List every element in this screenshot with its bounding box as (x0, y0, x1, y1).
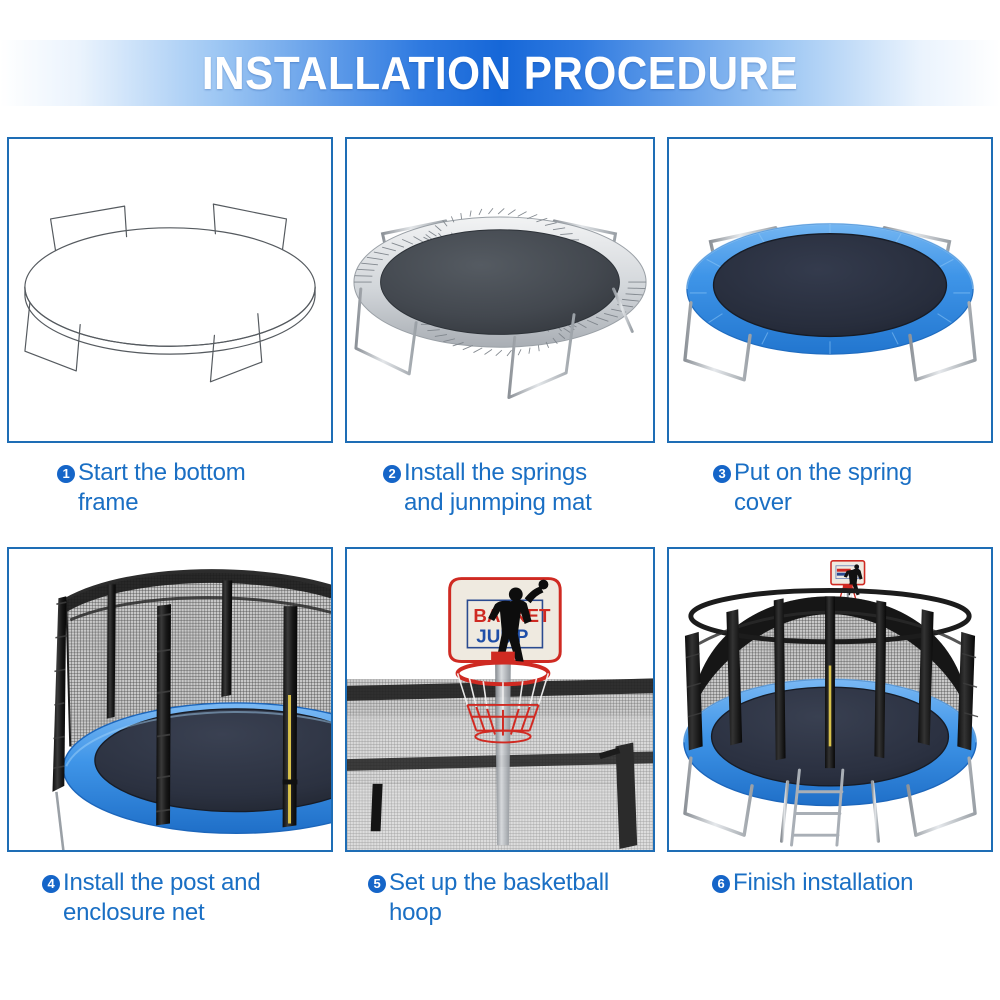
caption-line-5b: hoop (368, 898, 658, 928)
caption-step-6: 6Finish installation (712, 868, 1000, 898)
caption-line-5a: Set up the basketball (389, 869, 609, 896)
caption-line-3a: Put on the spring (734, 459, 912, 486)
caption-step-3: 3Put on the spring cover (713, 458, 988, 518)
illustration-posts-and-net (9, 549, 331, 850)
caption-step-5: 5Set up the basketball hoop (368, 868, 658, 928)
step-badge-6: 6 (712, 875, 730, 893)
illustration-springs-and-mat (347, 139, 653, 441)
caption-line-2b: and junmping mat (383, 488, 658, 518)
illustration-spring-cover (669, 139, 991, 441)
caption-step-2: 2Install the springs and junmping mat (383, 458, 658, 518)
caption-line-4a: Install the post and (63, 869, 260, 896)
panel-step-4 (7, 547, 333, 852)
caption-line-2a: Install the springs (404, 459, 587, 486)
step-badge-5: 5 (368, 875, 386, 893)
caption-line-1a: Start the bottom (78, 459, 246, 486)
panel-step-3 (667, 137, 993, 443)
caption-line-6a: Finish installation (733, 869, 913, 896)
step-badge-1: 1 (57, 465, 75, 483)
caption-line-3b: cover (713, 488, 988, 518)
illustration-finished-trampoline (669, 549, 991, 850)
panel-step-5: BASKET JUMP (345, 547, 655, 852)
caption-line-4b: enclosure net (42, 898, 332, 928)
step-badge-4: 4 (42, 875, 60, 893)
panel-step-6 (667, 547, 993, 852)
step-badge-2: 2 (383, 465, 401, 483)
caption-line-1b: frame (57, 488, 327, 518)
caption-step-4: 4Install the post and enclosure net (42, 868, 332, 928)
header-banner: INSTALLATION PROCEDURE (0, 40, 1000, 106)
panel-step-1 (7, 137, 333, 443)
illustration-bottom-frame (9, 139, 331, 441)
panel-step-2 (345, 137, 655, 443)
page-title: INSTALLATION PROCEDURE (202, 50, 798, 96)
step-badge-3: 3 (713, 465, 731, 483)
caption-step-1: 1Start the bottom frame (57, 458, 327, 518)
illustration-basketball-hoop: BASKET JUMP (347, 549, 653, 850)
installation-procedure-page: INSTALLATION PROCEDURE (0, 0, 1000, 1000)
